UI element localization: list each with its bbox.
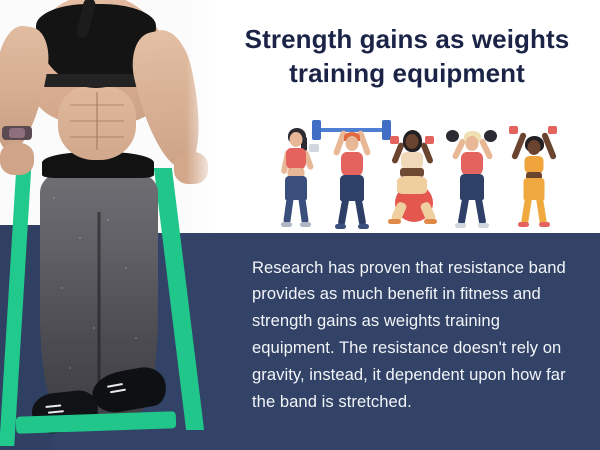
- shorts-icon: [397, 176, 427, 194]
- head-icon: [466, 136, 479, 151]
- leg-right: [475, 196, 487, 226]
- head-icon: [346, 136, 359, 151]
- description-text: Research has proven that resistance band…: [252, 255, 582, 416]
- figure-man-overhead-barbell-press: [324, 118, 380, 230]
- exercise-illustration: [268, 118, 568, 230]
- leg-left: [283, 196, 294, 225]
- model-abdomen: [58, 86, 136, 160]
- shoe-left: [455, 223, 466, 228]
- barbell-plate-left: [312, 120, 321, 140]
- shoe-lace: [45, 404, 61, 408]
- wrist-watch-icon: [2, 126, 32, 140]
- product-banner: Strength gains as weights training equip…: [0, 0, 600, 450]
- abs-crease: [70, 136, 124, 138]
- dumbbell-icon-left: [390, 136, 399, 144]
- sports-bra-icon: [286, 148, 306, 170]
- shoe-right: [539, 222, 550, 227]
- tank-top-icon: [341, 152, 363, 177]
- head-icon: [290, 132, 303, 147]
- head-icon: [528, 140, 541, 155]
- photo-edge-fade: [186, 0, 232, 233]
- shoe-right: [478, 223, 489, 228]
- headline-line-2: training equipment: [228, 56, 586, 90]
- model-left-hand: [0, 143, 34, 175]
- top-icon: [461, 152, 483, 176]
- shoe-lace: [48, 410, 64, 414]
- dumbbell-icon-right: [425, 136, 434, 144]
- leg-right: [298, 196, 309, 225]
- shoe-lace: [107, 383, 123, 388]
- shoe-left: [518, 222, 529, 227]
- figure-woman-on-exercise-ball: [384, 118, 440, 230]
- headline-line-1: Strength gains as weights: [245, 24, 570, 54]
- figure-woman-arms-raised: [506, 118, 562, 230]
- shoe-left: [335, 224, 346, 229]
- figure-person-shoulder-press: [444, 118, 500, 230]
- shoe-left: [281, 222, 292, 227]
- shoe-right: [300, 222, 311, 227]
- dumbbell-icon-left: [446, 130, 459, 142]
- shoe-right: [358, 224, 369, 229]
- photo-lower-inner: [0, 233, 232, 450]
- head-icon: [406, 134, 419, 149]
- abs-crease: [70, 120, 124, 122]
- leg-right: [355, 197, 367, 227]
- weight-icon-right: [548, 126, 557, 134]
- product-photo-lower: [0, 233, 232, 450]
- shoe-left: [388, 219, 401, 224]
- shoe-right: [424, 219, 437, 224]
- dumbbell-icon: [309, 144, 319, 152]
- page-title: Strength gains as weights training equip…: [228, 22, 586, 91]
- abs-crease: [70, 104, 124, 106]
- leg-left: [458, 196, 470, 226]
- leg-left: [338, 197, 350, 227]
- dumbbell-icon-right: [484, 130, 497, 142]
- weight-icon-left: [509, 126, 518, 134]
- shoe-lace: [110, 389, 126, 394]
